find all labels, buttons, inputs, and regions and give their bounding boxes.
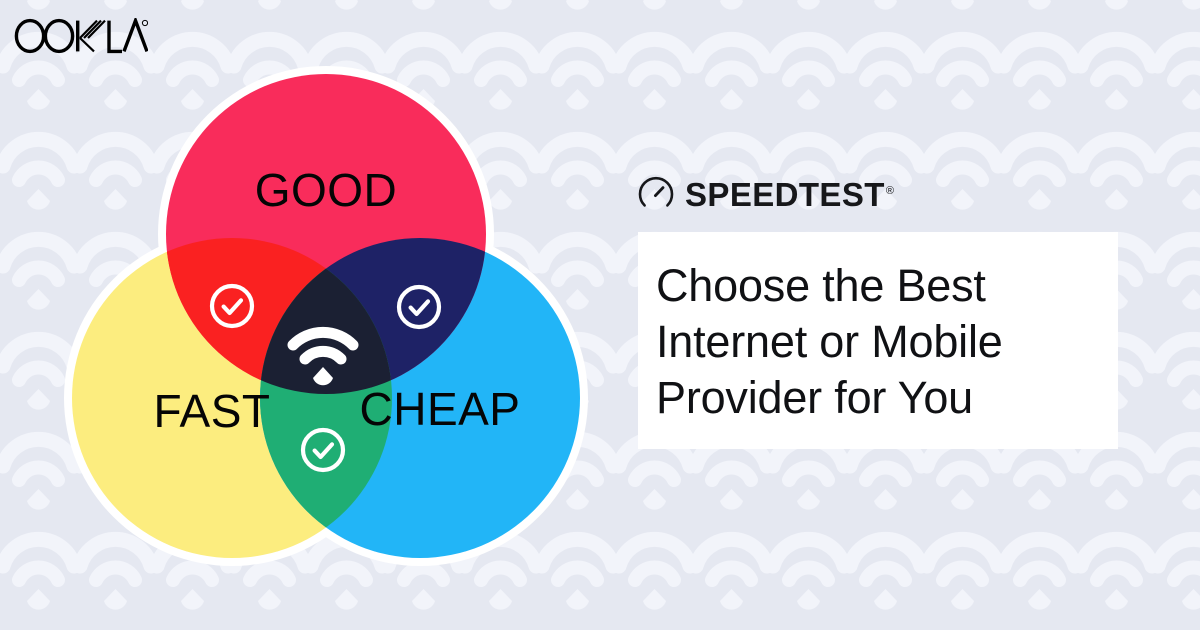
venn-label-fast: FAST: [153, 385, 270, 437]
venn-label-cheap: CHEAP: [360, 383, 521, 435]
speedometer-gauge-icon: [638, 176, 674, 212]
speedtest-wordmark: SPEEDTEST®: [685, 178, 894, 211]
venn-label-good: GOOD: [255, 164, 398, 216]
speedtest-logo: SPEEDTEST®: [638, 172, 1128, 216]
headline-line-3: Provider for You: [656, 370, 1092, 426]
headline-line-2: Internet or Mobile: [656, 314, 1092, 370]
right-content-column: SPEEDTEST® Choose the Best Internet or M…: [638, 172, 1128, 449]
speedtest-registered-mark: ®: [886, 185, 895, 197]
ookla-logo: [14, 18, 148, 54]
headline-panel: Choose the Best Internet or Mobile Provi…: [638, 232, 1118, 449]
page-title: Choose the Best Internet or Mobile Provi…: [656, 258, 1092, 425]
venn-diagram: GOOD FAST CHEAP: [46, 58, 606, 578]
headline-line-1: Choose the Best: [656, 258, 1092, 314]
speedtest-wordmark-text: SPEEDTEST: [685, 176, 885, 213]
